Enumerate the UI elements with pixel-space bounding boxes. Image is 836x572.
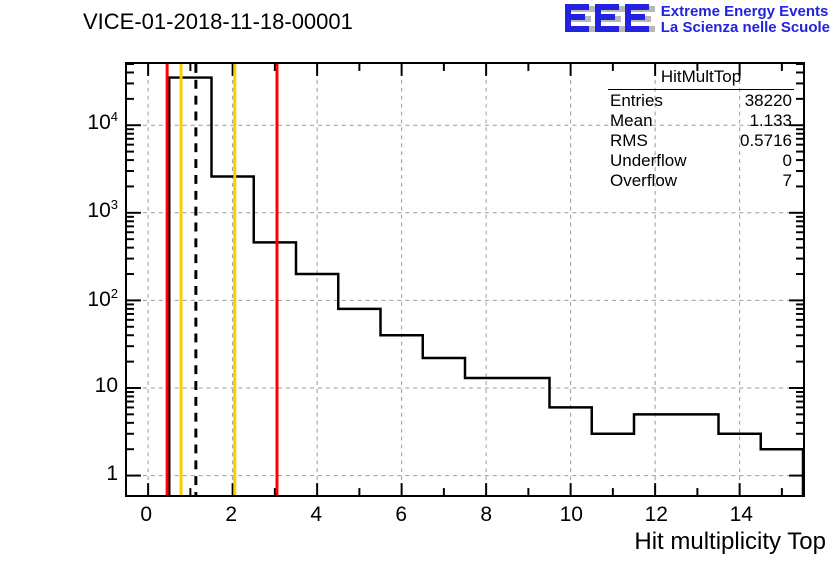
- y-tick-label-2: 102: [30, 286, 118, 312]
- stats-value-underflow: 0: [783, 151, 792, 171]
- y-tick-label-4: 104: [30, 109, 118, 135]
- eee-logo-text: Extreme Energy Events La Scienza nelle S…: [661, 4, 830, 36]
- x-tick-label-0: 0: [126, 503, 166, 527]
- x-tick-label-3: 6: [381, 503, 421, 527]
- stats-key-rms: RMS: [610, 131, 648, 151]
- x-tick-label-7: 14: [721, 503, 761, 527]
- eee-logo-line1: Extreme Energy Events: [661, 4, 830, 20]
- eee-logo-line2: La Scienza nelle Scuole: [661, 20, 830, 36]
- stats-key-overflow: Overflow: [610, 171, 677, 191]
- stats-title: HitMultTop: [604, 66, 798, 89]
- stats-value-overflow: 7: [783, 171, 792, 191]
- stats-key-underflow: Underflow: [610, 151, 687, 171]
- stats-row-mean: Mean 1.133: [604, 111, 798, 131]
- eee-logo-icon: [563, 2, 655, 38]
- y-tick-label-1: 10: [30, 374, 118, 398]
- x-tick-label-6: 12: [636, 503, 676, 527]
- stats-row-entries: Entries 38220: [604, 91, 798, 111]
- x-tick-label-4: 8: [466, 503, 506, 527]
- x-tick-label-1: 2: [211, 503, 251, 527]
- y-tick-label-0: 1: [30, 462, 118, 486]
- stats-value-mean: 1.133: [749, 111, 792, 131]
- stats-key-mean: Mean: [610, 111, 653, 131]
- stats-key-entries: Entries: [610, 91, 663, 111]
- stats-row-overflow: Overflow 7: [604, 171, 798, 191]
- stats-divider: [608, 89, 794, 90]
- x-tick-label-2: 4: [296, 503, 336, 527]
- x-tick-label-5: 10: [551, 503, 591, 527]
- stats-row-underflow: Underflow 0: [604, 151, 798, 171]
- x-axis-title: Hit multiplicity Top: [634, 528, 826, 556]
- stats-box: HitMultTop Entries 38220 Mean 1.133 RMS …: [604, 66, 798, 191]
- eee-logo: Extreme Energy Events La Scienza nelle S…: [563, 2, 830, 38]
- page-title: VICE-01-2018-11-18-00001: [83, 9, 353, 35]
- stats-value-entries: 38220: [745, 91, 792, 111]
- stats-value-rms: 0.5716: [740, 131, 792, 151]
- stats-row-rms: RMS 0.5716: [604, 131, 798, 151]
- y-tick-label-3: 103: [30, 197, 118, 223]
